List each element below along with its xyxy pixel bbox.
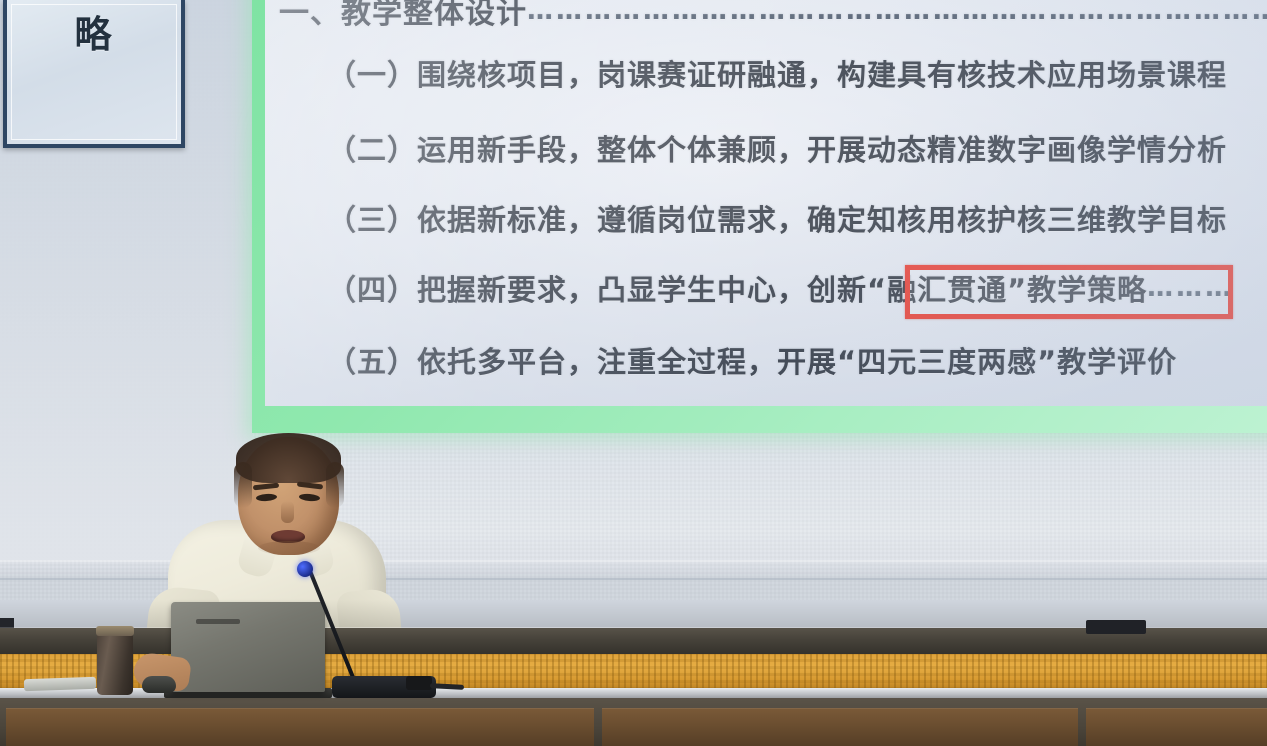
red-highlight-box: [905, 265, 1233, 319]
microphone-capsule-led: [297, 561, 313, 577]
slide-item-3-text: 依据新标准，遵循岗位需求，确定知核用核护核三维教学目标: [417, 203, 1227, 237]
thermos-cup: [97, 629, 133, 695]
slide-item-2-label: （二）: [327, 133, 417, 167]
desk-front-panel-3: [1086, 708, 1267, 746]
slide-item-2: （二）运用新手段，整体个体兼顾，开展动态精准数字画像学情分析: [327, 127, 1227, 169]
slide-item-1-label: （一）: [327, 58, 417, 92]
slide-item-1: （一）围绕核项目，岗课赛证研融通，构建具有核技术应用场景课程: [327, 52, 1227, 94]
presenter-chin-shadow: [258, 541, 320, 555]
slide-heading: 一、教学整体设计………………………………………………………………………: [279, 0, 1267, 32]
slide-item-5-text: 依托多平台，注重全过程，开展“四元三度两感”教学评价: [417, 345, 1177, 379]
desk-dark-block-right: [1086, 620, 1146, 634]
desk-gadget: [406, 676, 432, 690]
slide-item-4-label: （四）: [327, 273, 417, 307]
slide-heading-leader: ………………………………………………………………………: [527, 0, 1267, 26]
computer-mouse[interactable]: [142, 676, 176, 693]
presenter-nose: [281, 501, 294, 523]
slide-item-5: （五）依托多平台，注重全过程，开展“四元三度两感”教学评价: [327, 339, 1177, 381]
slide-item-3: （三）依据新标准，遵循岗位需求，确定知核用核护核三维教学目标: [327, 197, 1227, 239]
slide-item-1-text: 围绕核项目，岗课赛证研融通，构建具有核技术应用场景课程: [417, 58, 1227, 92]
slide-item-3-label: （三）: [327, 203, 417, 237]
screenshot-frame: 略 一、教学整体设计……………………………………………………………………… （一…: [0, 0, 1267, 746]
placard-character: 略: [7, 4, 181, 58]
wall-placard: 略: [3, 0, 185, 148]
slide-content-panel: 一、教学整体设计……………………………………………………………………… （一）围…: [265, 0, 1267, 406]
slide-item-2-text: 运用新手段，整体个体兼顾，开展动态精准数字画像学情分析: [417, 133, 1227, 167]
presenter-hair-right: [326, 462, 344, 508]
desk-front-panel-1: [6, 708, 594, 746]
laptop-logo: [196, 619, 240, 624]
slide-heading-text: 一、教学整体设计: [279, 0, 527, 31]
slide-item-5-label: （五）: [327, 345, 417, 379]
laptop-lid[interactable]: [171, 602, 325, 692]
paper-on-desk: [24, 677, 96, 692]
desk-front-panel-2: [602, 708, 1078, 746]
thermos-cup-lid: [96, 626, 134, 636]
presenter-hair-left: [234, 462, 252, 508]
